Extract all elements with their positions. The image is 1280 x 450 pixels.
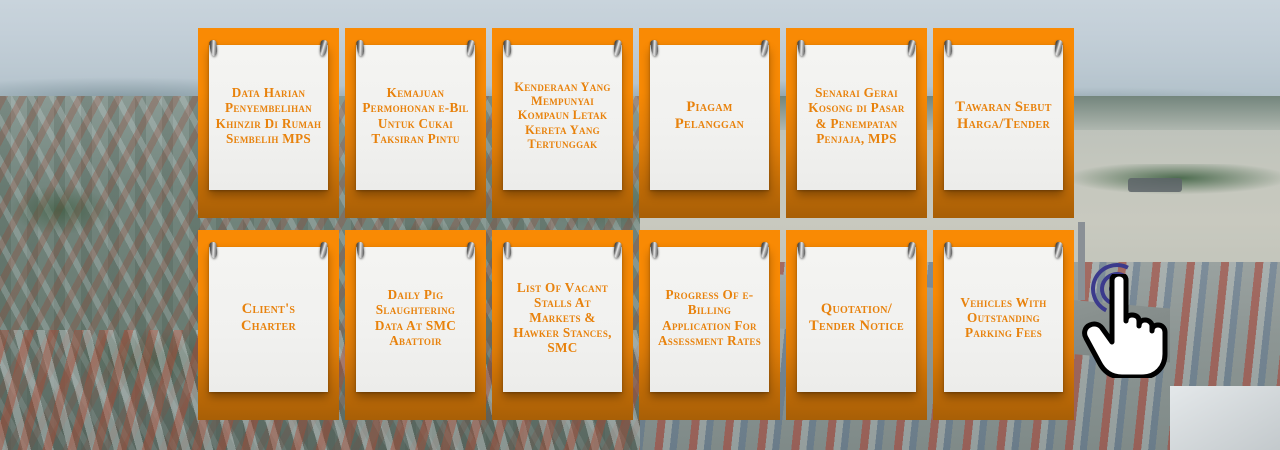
pin-icon-right bbox=[319, 242, 328, 259]
card-paper: Quotation/ Tender Notice bbox=[797, 247, 916, 392]
pin-icon-left bbox=[797, 242, 806, 259]
pin-icon-left bbox=[209, 242, 218, 259]
card-title: Quotation/ Tender Notice bbox=[802, 301, 911, 335]
pin-icon-left bbox=[944, 40, 953, 57]
card-paper: Vehicles With Outstanding Parking Fees bbox=[944, 247, 1063, 392]
pin-icon-right bbox=[1054, 40, 1063, 57]
card-title: Daily Pig Slaughtering Data At SMC Abatt… bbox=[361, 287, 470, 347]
quick-link-card-daily-pig-slaughtering-data-smc[interactable]: Daily Pig Slaughtering Data At SMC Abatt… bbox=[345, 230, 486, 420]
card-paper: Kenderaan Yang Mempunyai Kompaun Letak K… bbox=[503, 45, 622, 190]
pin-icon-left bbox=[356, 40, 365, 57]
pin-icon-left bbox=[209, 40, 218, 57]
pin-icon-right bbox=[760, 242, 769, 259]
river-barge bbox=[1128, 178, 1182, 192]
card-title: Kemajuan Permohonan e-Bil Untuk Cukai Ta… bbox=[361, 85, 470, 145]
pin-icon-left bbox=[650, 40, 659, 57]
quick-link-card-vehicles-outstanding-parking-fees[interactable]: Vehicles With Outstanding Parking Fees bbox=[933, 230, 1074, 420]
card-title: Piagam Pelanggan bbox=[655, 99, 764, 133]
card-paper: List Of Vacant Stalls At Markets & Hawke… bbox=[503, 247, 622, 392]
quick-link-card-ebill-assessment-progress-ms[interactable]: Kemajuan Permohonan e-Bil Untuk Cukai Ta… bbox=[345, 28, 486, 218]
card-paper: Client's Charter bbox=[209, 247, 328, 392]
card-title: Client's Charter bbox=[214, 301, 323, 335]
quick-link-card-list-vacant-stalls-smc[interactable]: List Of Vacant Stalls At Markets & Hawke… bbox=[492, 230, 633, 420]
pin-icon-right bbox=[613, 40, 622, 57]
pin-icon-right bbox=[466, 40, 475, 57]
quick-link-card-grid: Data Harian Penyembelihan Khinzir Di Rum… bbox=[198, 28, 1082, 420]
card-paper: Kemajuan Permohonan e-Bil Untuk Cukai Ta… bbox=[356, 45, 475, 190]
card-paper: Progress Of e-Billing Application For As… bbox=[650, 247, 769, 392]
card-paper: Senarai Gerai Kosong di Pasar & Penempat… bbox=[797, 45, 916, 190]
pin-icon-left bbox=[650, 242, 659, 259]
card-paper: Piagam Pelanggan bbox=[650, 45, 769, 190]
pin-icon-right bbox=[907, 40, 916, 57]
quick-link-card-clients-charter-en[interactable]: Client's Charter bbox=[198, 230, 339, 420]
quick-link-card-client-charter-ms[interactable]: Piagam Pelanggan bbox=[639, 28, 780, 218]
pin-icon-right bbox=[466, 242, 475, 259]
page-stage: Data Harian Penyembelihan Khinzir Di Rum… bbox=[0, 0, 1280, 450]
pin-icon-left bbox=[356, 242, 365, 259]
quick-link-card-quotation-tender-notice-en[interactable]: Quotation/ Tender Notice bbox=[786, 230, 927, 420]
card-title: Vehicles With Outstanding Parking Fees bbox=[949, 295, 1058, 340]
pin-icon-left bbox=[503, 242, 512, 259]
pin-icon-right bbox=[613, 242, 622, 259]
card-title: Progress Of e-Billing Application For As… bbox=[655, 287, 764, 347]
card-title: Data Harian Penyembelihan Khinzir Di Rum… bbox=[214, 85, 323, 145]
pin-icon-right bbox=[1054, 242, 1063, 259]
quick-link-card-progress-ebilling-assessment-rates[interactable]: Progress Of e-Billing Application For As… bbox=[639, 230, 780, 420]
white-building bbox=[1170, 386, 1280, 450]
card-title: List Of Vacant Stalls At Markets & Hawke… bbox=[508, 280, 617, 355]
card-title: Tawaran Sebut Harga/Tender bbox=[949, 99, 1058, 133]
card-paper: Daily Pig Slaughtering Data At SMC Abatt… bbox=[356, 247, 475, 392]
pin-icon-left bbox=[797, 40, 806, 57]
quick-link-card-daily-pig-slaughter-data-mps[interactable]: Data Harian Penyembelihan Khinzir Di Rum… bbox=[198, 28, 339, 218]
card-title: Kenderaan Yang Mempunyai Kompaun Letak K… bbox=[508, 80, 617, 150]
card-paper: Tawaran Sebut Harga/Tender bbox=[944, 45, 1063, 190]
quick-link-card-vehicles-outstanding-parking-compound-ms[interactable]: Kenderaan Yang Mempunyai Kompaun Letak K… bbox=[492, 28, 633, 218]
pin-icon-right bbox=[907, 242, 916, 259]
pin-icon-left bbox=[503, 40, 512, 57]
card-title: Senarai Gerai Kosong di Pasar & Penempat… bbox=[802, 85, 911, 145]
quick-link-card-quotation-tender-notice-ms[interactable]: Tawaran Sebut Harga/Tender bbox=[933, 28, 1074, 218]
pin-icon-left bbox=[944, 242, 953, 259]
pin-icon-right bbox=[760, 40, 769, 57]
pin-icon-right bbox=[319, 40, 328, 57]
quick-link-card-vacant-stalls-markets-ms[interactable]: Senarai Gerai Kosong di Pasar & Penempat… bbox=[786, 28, 927, 218]
card-paper: Data Harian Penyembelihan Khinzir Di Rum… bbox=[209, 45, 328, 190]
